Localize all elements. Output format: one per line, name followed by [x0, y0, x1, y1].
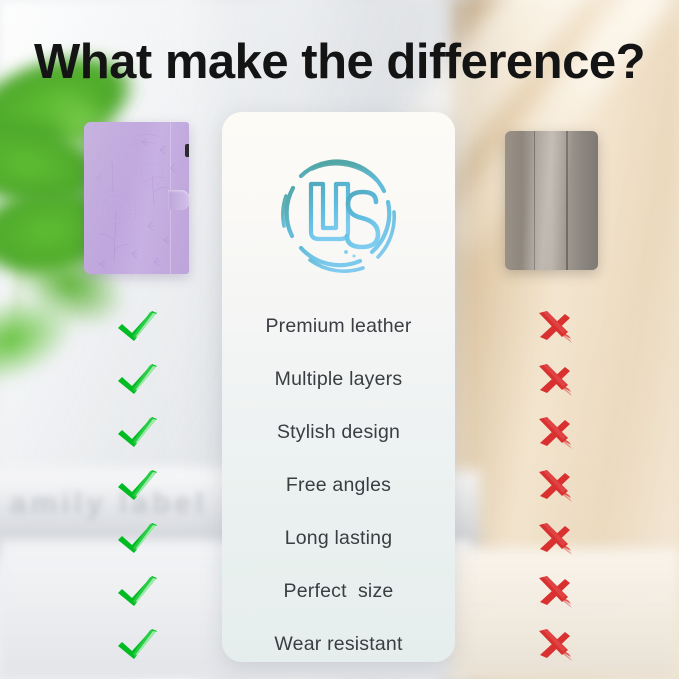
- case-highlight: [84, 122, 189, 274]
- feature-row: Stylish design: [222, 406, 455, 459]
- feature-row: Long lasting: [222, 512, 455, 565]
- infographic-canvas: amily label What make the difference?: [0, 0, 679, 679]
- feature-row: Perfect size: [222, 565, 455, 618]
- check-mark-icon: [116, 363, 160, 397]
- feature-row: Free angles: [222, 459, 455, 512]
- check-mark-cell: [108, 512, 168, 565]
- check-mark-cell: [108, 618, 168, 671]
- check-mark-cell: [108, 300, 168, 353]
- cross-mark-icon: [535, 522, 575, 556]
- check-mark-icon: [116, 628, 160, 662]
- feature-row: Premium leather: [222, 300, 455, 353]
- page-title: What make the difference?: [0, 34, 679, 90]
- feature-row: Wear resistant: [222, 618, 455, 671]
- cross-mark-cell: [525, 565, 585, 618]
- feature-label: Premium leather: [265, 315, 411, 338]
- cross-mark-icon: [535, 363, 575, 397]
- right-mark-column: [525, 300, 585, 671]
- vs-logo-icon: [268, 140, 410, 282]
- cross-mark-cell: [525, 406, 585, 459]
- check-mark-icon: [116, 416, 160, 450]
- cross-mark-icon: [535, 416, 575, 450]
- check-mark-cell: [108, 565, 168, 618]
- feature-label: Long lasting: [285, 527, 393, 550]
- comparison-card: Premium leather Multiple layers Stylish …: [222, 112, 455, 662]
- feature-list: Premium leather Multiple layers Stylish …: [222, 300, 455, 671]
- product-image-left: [84, 122, 189, 274]
- feature-label: Free angles: [286, 474, 391, 497]
- cross-mark-icon: [535, 575, 575, 609]
- check-mark-icon: [116, 310, 160, 344]
- check-mark-cell: [108, 406, 168, 459]
- check-mark-cell: [108, 353, 168, 406]
- cross-mark-cell: [525, 300, 585, 353]
- cross-mark-icon: [535, 310, 575, 344]
- cross-mark-cell: [525, 459, 585, 512]
- cross-mark-icon: [535, 469, 575, 503]
- feature-label: Wear resistant: [274, 633, 402, 656]
- cross-mark-cell: [525, 353, 585, 406]
- check-mark-icon: [116, 469, 160, 503]
- check-mark-icon: [116, 575, 160, 609]
- cross-mark-cell: [525, 512, 585, 565]
- feature-label: Stylish design: [277, 421, 400, 444]
- product-image-right: [505, 131, 598, 270]
- left-mark-column: [108, 300, 168, 671]
- feature-label: Perfect size: [284, 580, 394, 603]
- feature-row: Multiple layers: [222, 353, 455, 406]
- check-mark-cell: [108, 459, 168, 512]
- cross-mark-cell: [525, 618, 585, 671]
- feature-label: Multiple layers: [275, 368, 403, 391]
- cross-mark-icon: [535, 628, 575, 662]
- case-highlight: [505, 131, 598, 270]
- check-mark-icon: [116, 522, 160, 556]
